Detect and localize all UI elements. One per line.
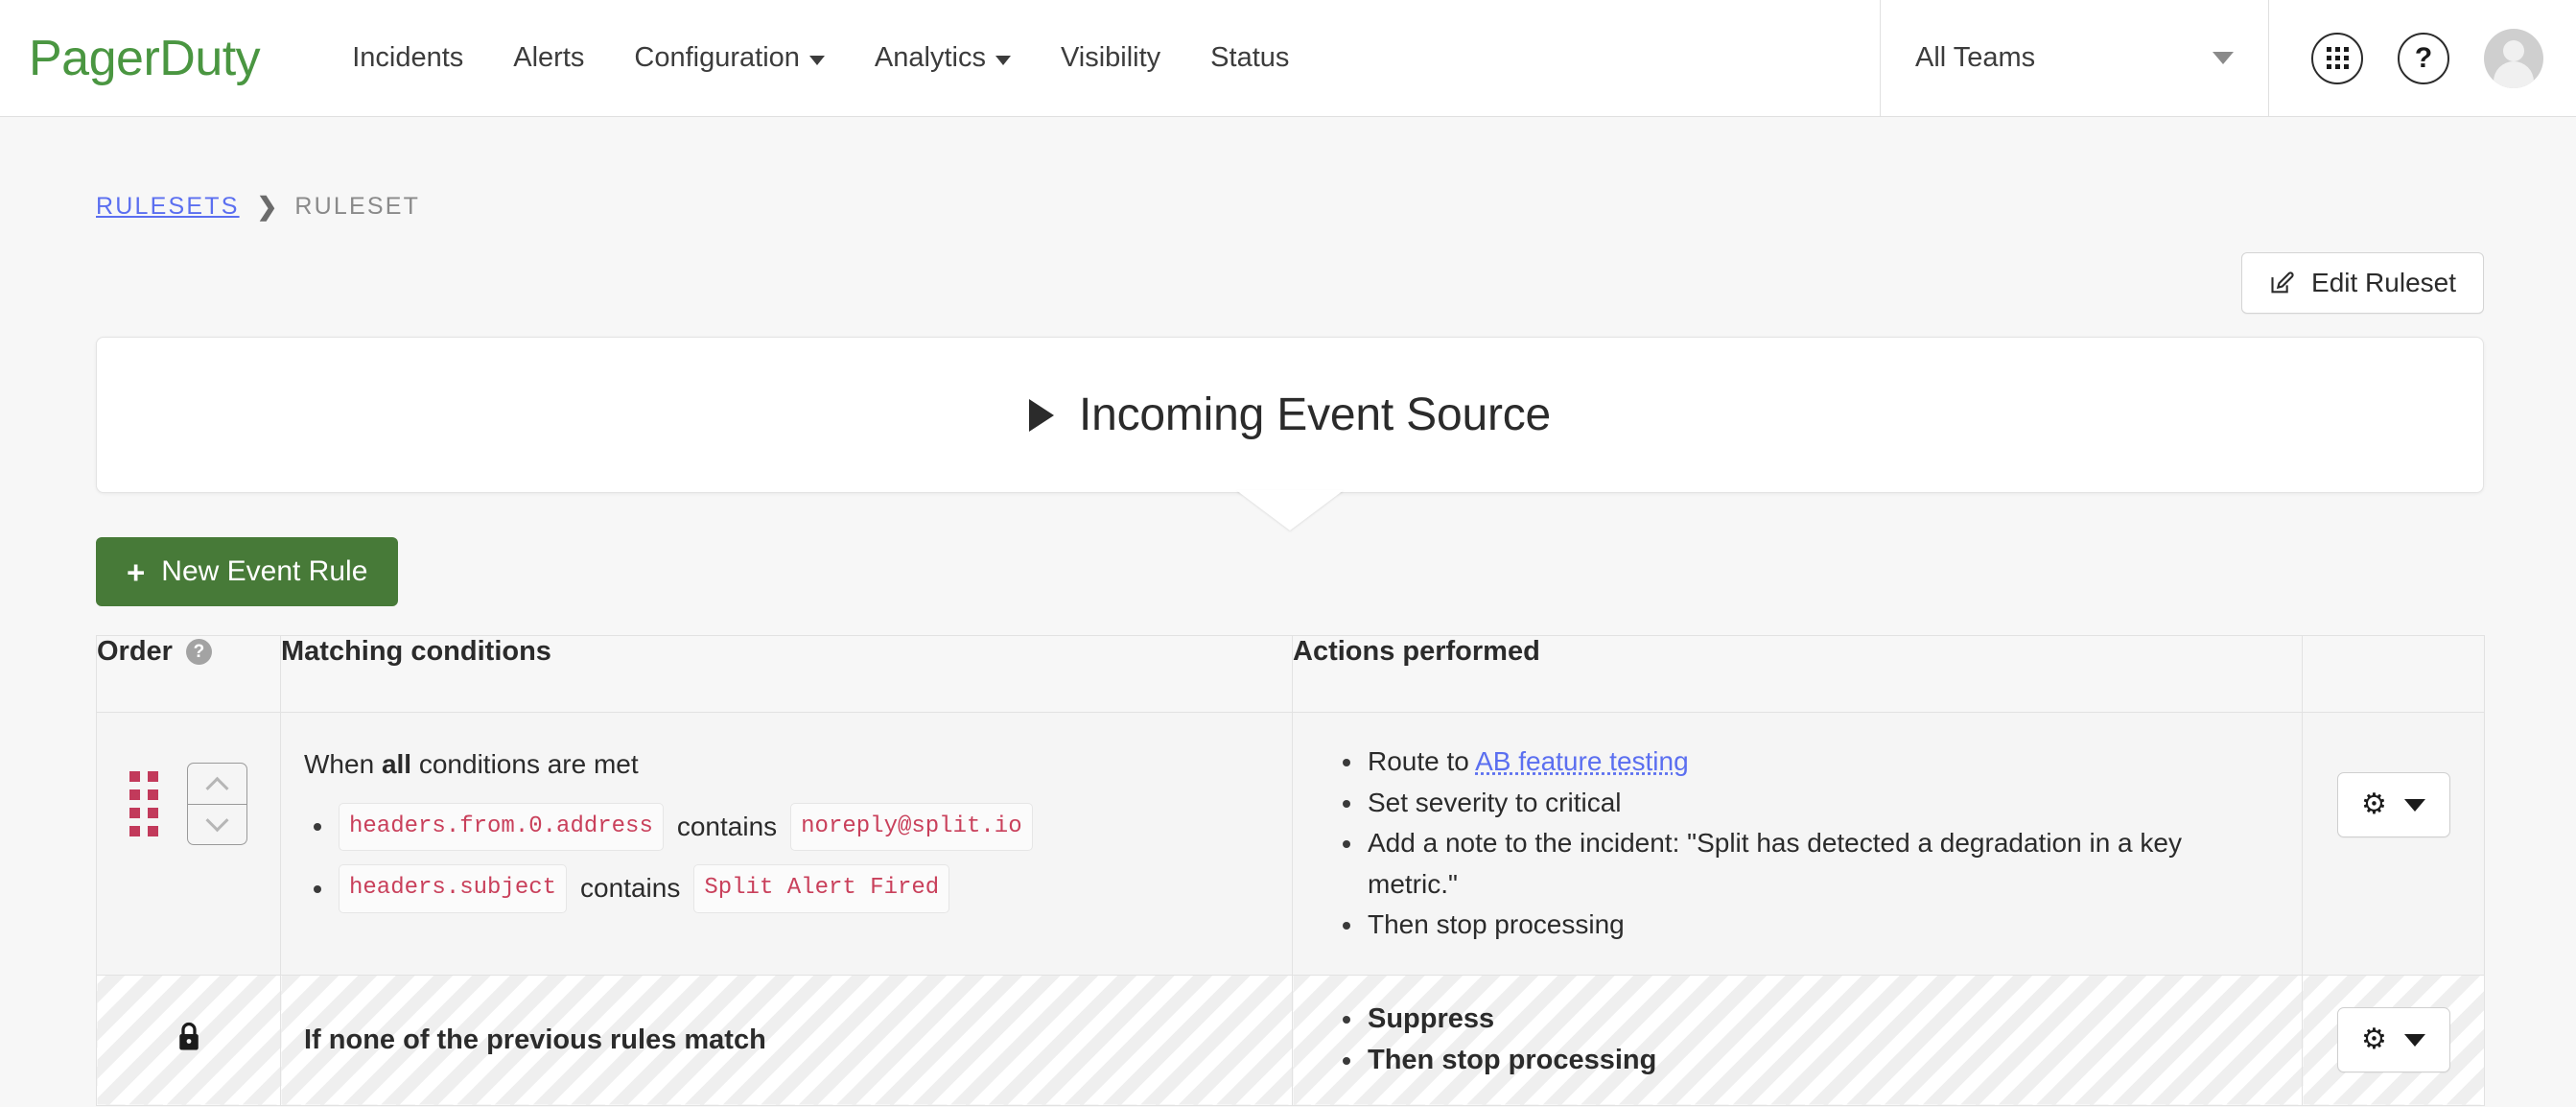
- column-header-menu: [2303, 636, 2485, 713]
- table-head: Order ? Matching conditions Actions perf…: [97, 636, 2485, 713]
- condition-value: noreply@split.io: [790, 803, 1032, 851]
- breadcrumb-current-ruleset: RULESET: [294, 193, 420, 221]
- condition-value: Split Alert Fired: [693, 864, 949, 912]
- table-body: When all conditions are met headers.from…: [97, 713, 2485, 1106]
- team-selector-value: All Teams: [1915, 42, 2035, 74]
- rules-table-wrap: Order ? Matching conditions Actions perf…: [0, 606, 2576, 1106]
- main-content: RULESETS ❯ RULESET Edit Ruleset Incoming…: [0, 117, 2576, 1106]
- panel-notch-arrow: [1236, 490, 1344, 530]
- row-settings-menu-button[interactable]: ⚙: [2337, 772, 2450, 837]
- condition-field: headers.from.0.address: [339, 803, 664, 851]
- condition-field: headers.subject: [339, 864, 567, 912]
- chevron-down-icon: [809, 56, 825, 65]
- event-source-panel-wrap: Incoming Event Source: [0, 337, 2576, 493]
- toolbar-row: Edit Ruleset: [0, 252, 2576, 314]
- edit-ruleset-label: Edit Ruleset: [2311, 268, 2456, 298]
- drag-handle-icon[interactable]: [129, 771, 158, 836]
- action-item: Then stop processing: [1333, 905, 2273, 946]
- nav-right-group: ?: [2269, 0, 2576, 116]
- nav-item-analytics[interactable]: Analytics: [850, 44, 1036, 72]
- avatar[interactable]: [2484, 29, 2543, 88]
- incoming-event-source-panel[interactable]: Incoming Event Source: [96, 337, 2484, 493]
- nav-item-status[interactable]: Status: [1185, 44, 1314, 72]
- catchall-actions-list: Suppress Then stop processing: [1333, 999, 2273, 1082]
- grid-apps-glyph: [2327, 47, 2349, 69]
- when-emphasis: all: [382, 749, 411, 779]
- nav-menu: Incidents Alerts Configuration Analytics…: [327, 44, 1314, 72]
- route-target-link[interactable]: AB feature testing: [1475, 746, 1689, 776]
- pagerduty-logo[interactable]: PagerDuty: [29, 34, 260, 83]
- team-selector[interactable]: All Teams: [1880, 0, 2269, 116]
- chevron-down-icon: [2404, 799, 2425, 812]
- nav-item-label: Visibility: [1061, 44, 1160, 72]
- cell-catchall-actions: Suppress Then stop processing: [1293, 975, 2303, 1105]
- breadcrumb-link-rulesets[interactable]: RULESETS: [96, 193, 240, 221]
- nav-item-label: Alerts: [513, 44, 584, 72]
- move-down-button[interactable]: [188, 804, 246, 844]
- chevron-down-icon: [995, 56, 1011, 65]
- order-controls: [97, 763, 280, 845]
- breadcrumb: RULESETS ❯ RULESET: [0, 117, 2576, 222]
- cell-order: [97, 713, 281, 976]
- when-conditions-line: When all conditions are met: [304, 749, 1263, 780]
- nav-item-label: Status: [1210, 44, 1289, 72]
- plus-icon: +: [127, 556, 145, 588]
- question-mark-glyph: ?: [2415, 44, 2432, 73]
- triangle-right-icon: [1029, 399, 1054, 432]
- action-text: Route to: [1368, 746, 1475, 776]
- nav-item-label: Analytics: [875, 44, 986, 72]
- grid-apps-icon[interactable]: [2311, 33, 2363, 84]
- column-header-order: Order ?: [97, 636, 281, 713]
- conditions-list: headers.from.0.address contains noreply@…: [304, 803, 1263, 913]
- cell-catchall-menu: ⚙: [2303, 975, 2485, 1105]
- catchall-settings-menu-button[interactable]: ⚙: [2337, 1007, 2450, 1072]
- table-row: When all conditions are met headers.from…: [97, 713, 2485, 976]
- gear-icon: ⚙: [2361, 790, 2387, 819]
- actions-list: Route to AB feature testing Set severity…: [1333, 742, 2273, 946]
- condition-item: headers.subject contains Split Alert Fir…: [304, 864, 1263, 912]
- order-stepper: [187, 763, 247, 845]
- table-row-catchall: If none of the previous rules match Supp…: [97, 975, 2485, 1105]
- chevron-right-icon: ❯: [257, 192, 278, 222]
- chevron-down-icon: [2404, 1034, 2425, 1047]
- cell-matching-conditions: When all conditions are met headers.from…: [281, 713, 1293, 976]
- cell-actions-performed: Route to AB feature testing Set severity…: [1293, 713, 2303, 976]
- table-header-row: Order ? Matching conditions Actions perf…: [97, 636, 2485, 713]
- new-event-rule-button[interactable]: + New Event Rule: [96, 537, 398, 606]
- condition-operator: contains: [580, 868, 680, 909]
- nav-item-visibility[interactable]: Visibility: [1036, 44, 1185, 72]
- event-source-panel-inner: Incoming Event Source: [1029, 389, 1551, 441]
- condition-operator: contains: [677, 807, 777, 848]
- action-item: Set severity to critical: [1333, 783, 2273, 824]
- action-item: Suppress: [1333, 999, 2273, 1041]
- help-icon[interactable]: ?: [2398, 33, 2449, 84]
- column-header-order-label: Order: [97, 636, 173, 668]
- top-navigation-bar: PagerDuty Incidents Alerts Configuration…: [0, 0, 2576, 117]
- chevron-down-icon: [205, 809, 228, 832]
- cell-order-locked: [97, 975, 281, 1105]
- action-item: Add a note to the incident: "Split has d…: [1333, 823, 2273, 905]
- event-rules-table: Order ? Matching conditions Actions perf…: [96, 635, 2485, 1106]
- nav-item-label: Incidents: [352, 44, 463, 72]
- column-header-matching-conditions: Matching conditions: [281, 636, 1293, 713]
- cell-row-menu: ⚙: [2303, 713, 2485, 976]
- gear-icon: ⚙: [2361, 1025, 2387, 1054]
- event-source-title: Incoming Event Source: [1079, 389, 1551, 441]
- nav-item-configuration[interactable]: Configuration: [609, 44, 850, 72]
- move-up-button[interactable]: [188, 764, 246, 804]
- edit-ruleset-button[interactable]: Edit Ruleset: [2241, 252, 2484, 314]
- catchall-label: If none of the previous rules match: [304, 1025, 766, 1055]
- when-prefix: When: [304, 749, 382, 779]
- action-item: Route to AB feature testing: [1333, 742, 2273, 783]
- cell-catchall-label: If none of the previous rules match: [281, 975, 1293, 1105]
- pencil-edit-icon: [2269, 270, 2296, 296]
- condition-item: headers.from.0.address contains noreply@…: [304, 803, 1263, 851]
- new-event-rule-label: New Event Rule: [161, 555, 367, 588]
- action-item: Then stop processing: [1333, 1040, 2273, 1082]
- when-suffix: conditions are met: [411, 749, 639, 779]
- order-header-inner: Order ?: [97, 636, 280, 668]
- column-header-actions-performed: Actions performed: [1293, 636, 2303, 713]
- nav-left-group: PagerDuty Incidents Alerts Configuration…: [0, 0, 1880, 116]
- lock-icon: [175, 1020, 203, 1054]
- nav-item-alerts[interactable]: Alerts: [488, 44, 609, 72]
- nav-item-incidents[interactable]: Incidents: [327, 44, 488, 72]
- nav-item-label: Configuration: [634, 44, 800, 72]
- chevron-up-icon: [205, 776, 228, 799]
- chevron-down-icon: [2213, 52, 2234, 64]
- help-tooltip-icon[interactable]: ?: [186, 639, 212, 665]
